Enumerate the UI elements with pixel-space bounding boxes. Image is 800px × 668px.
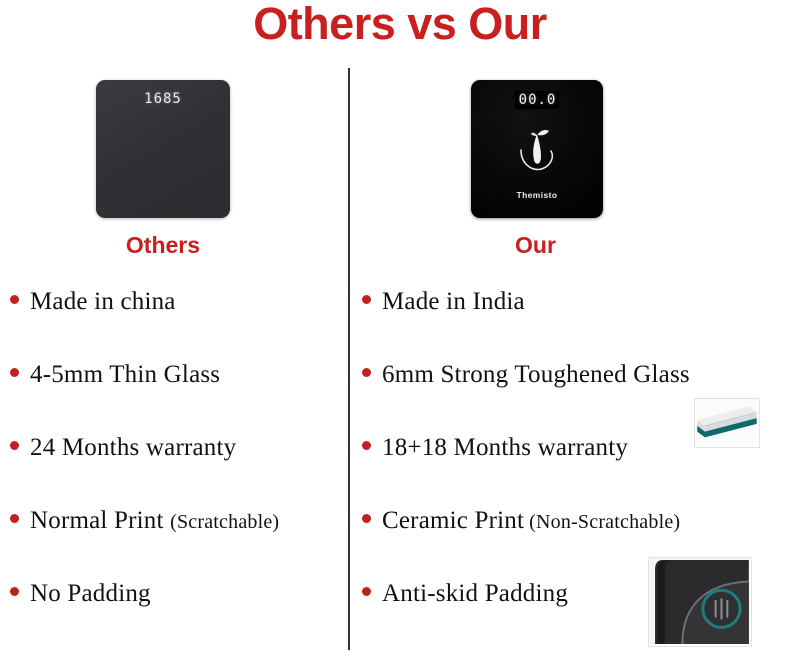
feature-label: 18+18 Months warranty	[382, 434, 628, 462]
feature-label-note: (Scratchable)	[170, 511, 279, 533]
scale-image-others: 1685	[96, 80, 230, 218]
list-item: No Padding	[10, 580, 340, 653]
list-item: Made in china	[10, 288, 340, 361]
feature-label: 24 Months warranty	[30, 434, 236, 462]
feature-label: Anti-skid Padding	[382, 580, 568, 608]
column-label-our: Our	[468, 232, 603, 259]
page-title: Others vs Our	[0, 0, 800, 50]
bullet-icon	[10, 441, 19, 450]
bullet-icon	[362, 295, 371, 304]
product-our: 00.0 Themisto Our	[471, 80, 603, 259]
bullet-icon	[362, 587, 371, 596]
scale-image-our: 00.0 Themisto	[471, 80, 603, 218]
bullet-icon	[10, 587, 19, 596]
list-item: Normal Print (Scratchable)	[10, 507, 340, 580]
column-divider	[348, 68, 350, 650]
feature-label: Made in India	[382, 288, 525, 316]
feature-label-note: (Non-Scratchable)	[529, 511, 680, 533]
bullet-icon	[10, 514, 19, 523]
digital-readout-our: 00.0	[471, 91, 603, 109]
list-item: Made in India	[362, 288, 762, 361]
column-label-others: Others	[96, 232, 230, 259]
bullet-icon	[10, 295, 19, 304]
digital-readout-our-value: 00.0	[515, 91, 560, 109]
bullet-icon	[10, 368, 19, 377]
bullet-icon	[362, 368, 371, 377]
product-others: 1685 Others	[96, 80, 230, 259]
feature-label: 4-5mm Thin Glass	[30, 361, 220, 389]
bullet-icon	[362, 441, 371, 450]
feature-label: Made in china	[30, 288, 176, 316]
feature-label-main: Normal Print	[30, 507, 164, 534]
feature-list-others: Made in china 4-5mm Thin Glass 24 Months…	[10, 288, 340, 653]
leaf-logo-icon	[514, 124, 560, 176]
bullet-icon	[362, 514, 371, 523]
feature-label: No Padding	[30, 580, 151, 608]
feature-label-main: Ceramic Print	[382, 507, 524, 534]
anti-skid-pad-thumb	[648, 557, 752, 647]
toughened-glass-thumb	[694, 398, 760, 448]
brand-name: Themisto	[471, 190, 603, 200]
digital-readout-others: 1685	[96, 91, 230, 107]
list-item: 4-5mm Thin Glass	[10, 361, 340, 434]
feature-label: 6mm Strong Toughened Glass	[382, 361, 690, 389]
feature-label: Normal Print (Scratchable)	[30, 507, 279, 535]
list-item: 24 Months warranty	[10, 434, 340, 507]
feature-label: Ceramic Print(Non-Scratchable)	[382, 507, 680, 535]
